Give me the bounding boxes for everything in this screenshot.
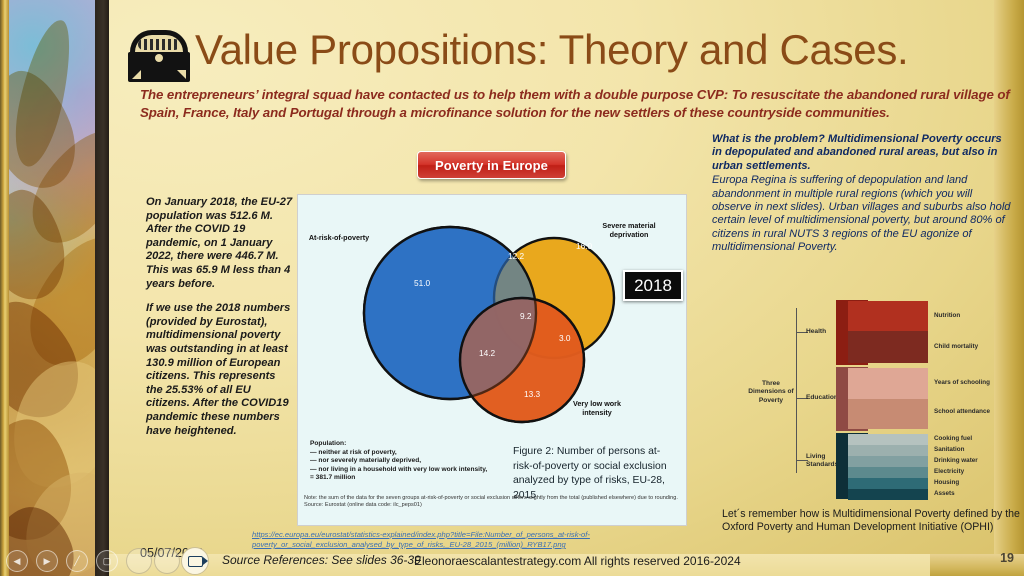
mpi-indicator-cooking-fuel: Cooking fuel (934, 435, 972, 442)
left-paragraph-2: If we use the 2018 numbers (provided by … (146, 302, 294, 438)
mpi-dimension-label-education: Education (806, 394, 838, 402)
page-number: 19 (1000, 551, 1014, 565)
venn-value-smd-only: 16.0 (576, 241, 592, 251)
mpi-indicator-housing: Housing (934, 479, 959, 486)
right-body: Europa Regina is suffering of depopulati… (712, 174, 1010, 253)
mpi-block-electricity (848, 467, 928, 478)
mpi-block-child-mortality (848, 331, 928, 363)
year-badge: 2018 (623, 270, 683, 301)
search-icon[interactable] (126, 548, 152, 574)
mpi-block-years-of-schooling (848, 368, 928, 399)
mpi-three-dimensions-diagram: Three Dimensions of Poverty Health Nutri… (748, 300, 1016, 500)
slide-canvas: Value Propositions: Theory and Cases. Th… (0, 0, 1024, 576)
mpi-root-label: Three Dimensions of Poverty (748, 380, 794, 405)
venn-value-poverty-only: 51.0 (414, 278, 430, 288)
previous-icon[interactable]: ◀ (6, 550, 28, 572)
source-url-link[interactable]: https://ec.europa.eu/eurostat/statistics… (252, 530, 692, 550)
layout-icon[interactable]: ▢ (96, 550, 118, 572)
mpi-indicator-electricity: Electricity (934, 468, 964, 475)
mpi-block-drinking-water (848, 456, 928, 467)
mpi-indicator-school-attendance: School attendance (934, 408, 990, 415)
venn-label-severe-material-deprivation: Severe material deprivation (592, 221, 666, 239)
source-references: Source References: See slides 36-39 (222, 553, 421, 567)
venn-value-smd-vlwi: 3.0 (559, 333, 571, 343)
mpi-block-cooking-fuel (848, 434, 928, 445)
figure-note: Note: the sum of the data for the seven … (304, 495, 680, 510)
left-paragraph-1: On January 2018, the EU-27 population wa… (146, 196, 294, 291)
venn-value-vlwi-only: 13.3 (524, 389, 540, 399)
notes-icon[interactable] (154, 548, 180, 574)
venn-population-note: Population: — neither at risk of poverty… (310, 440, 520, 483)
right-text-column: What is the problem? Multidimensional Po… (712, 133, 1014, 255)
mpi-block-assets (848, 489, 928, 500)
poverty-in-europe-badge: Poverty in Europe (417, 151, 566, 179)
mpi-dimension-label-health: Health (806, 328, 826, 336)
treasure-chest-icon (128, 30, 190, 82)
mpi-block-school-attendance (848, 399, 928, 429)
figure-note-text: Note: the sum of the data for the seven … (304, 495, 680, 502)
mpi-block-sanitation (848, 445, 928, 456)
mpi-indicator-sanitation: Sanitation (934, 446, 964, 453)
venn-value-poverty-vlwi: 14.2 (479, 348, 495, 358)
mpi-indicator-years-of-schooling: Years of schooling (934, 379, 990, 386)
dark-right-edge (95, 0, 109, 576)
mpi-indicator-drinking-water: Drinking water (934, 457, 978, 464)
gold-left-edge (0, 0, 9, 576)
mpi-block-nutrition (848, 301, 928, 331)
mpi-indicator-child-mortality: Child mortality (934, 343, 978, 350)
venn-value-all-three: 9.2 (520, 311, 532, 321)
venn-figure-panel: At-risk-of-poverty Severe material depri… (297, 194, 687, 526)
mpi-indicator-assets: Assets (934, 490, 955, 497)
page-title: Value Propositions: Theory and Cases. (195, 26, 995, 74)
right-bold-lead: What is the problem? Multidimensional Po… (712, 133, 1014, 173)
brand-copyright: Eleonoraescalantestrategy.com All rights… (414, 554, 741, 568)
video-camera-icon[interactable] (181, 547, 209, 575)
figure-source-text: Source: Eurostat (online data code: ilc_… (304, 502, 680, 509)
left-text-column: On January 2018, the EU-27 population wa… (146, 196, 294, 449)
mpi-indicator-nutrition: Nutrition (934, 312, 960, 319)
play-icon[interactable]: ▶ (36, 550, 58, 572)
slide-lede: The entrepreneurs’ integral squad have c… (140, 86, 1014, 121)
mpi-block-housing (848, 478, 928, 489)
pen-icon[interactable]: ╱ (66, 550, 88, 572)
venn-value-poverty-smd: 12.2 (508, 251, 524, 261)
venn-label-very-low-work-intensity: Very low work intensity (560, 399, 634, 417)
ophi-note: Let´s remember how is Multidimensional P… (722, 508, 1022, 534)
venn-label-at-risk-of-poverty: At-risk-of-poverty (302, 233, 376, 242)
decorative-sunflower-painting (0, 0, 109, 576)
